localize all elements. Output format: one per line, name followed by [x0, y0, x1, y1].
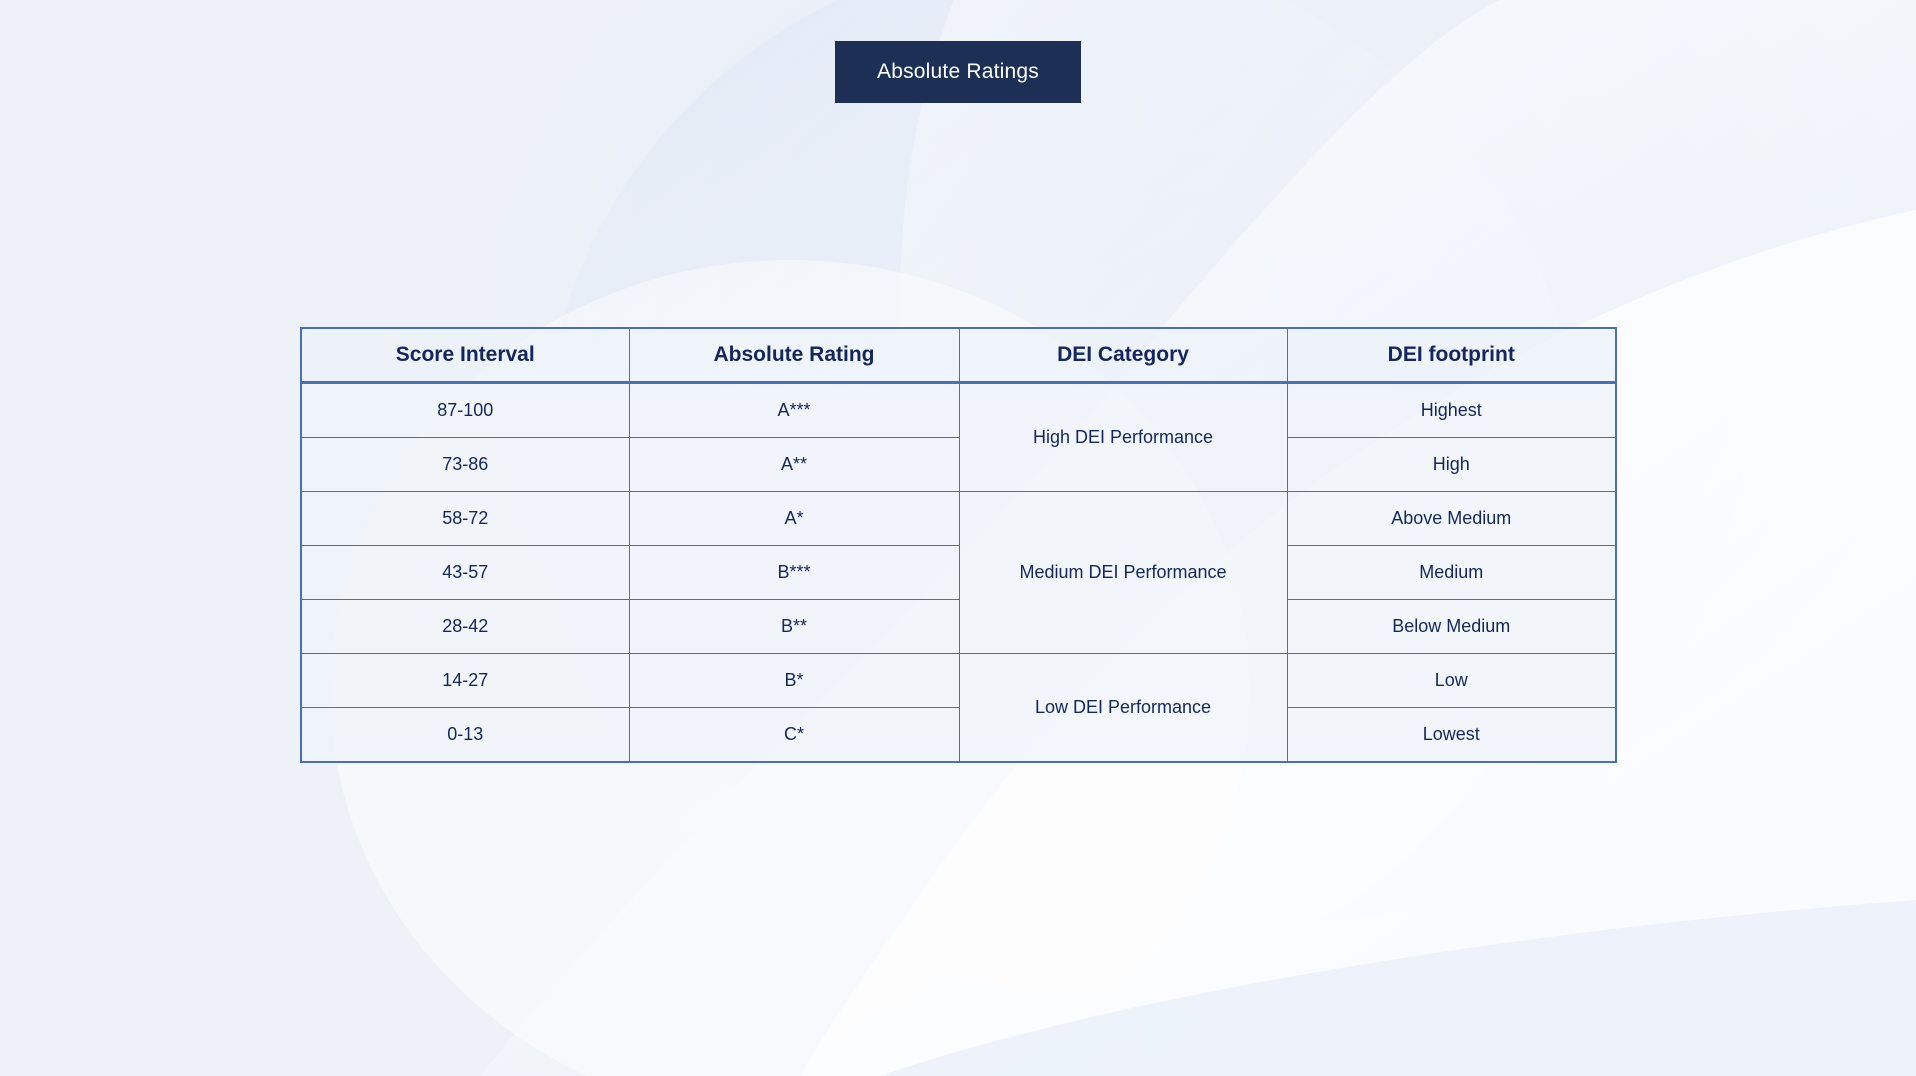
cell-dei-footprint: Lowest	[1287, 708, 1616, 763]
cell-dei-footprint: Below Medium	[1287, 600, 1616, 654]
table-row: 87-100 A*** High DEI Performance Highest	[301, 383, 1616, 438]
table-row: 43-57 B*** Medium	[301, 546, 1616, 600]
cell-dei-footprint: Low	[1287, 654, 1616, 708]
page-title-badge: Absolute Ratings	[835, 41, 1081, 103]
column-header-dei-category: DEI Category	[959, 328, 1287, 383]
table-body: 87-100 A*** High DEI Performance Highest…	[301, 383, 1616, 763]
cell-dei-footprint: Medium	[1287, 546, 1616, 600]
cell-dei-footprint: Highest	[1287, 383, 1616, 438]
cell-score-interval: 87-100	[301, 383, 629, 438]
page-title: Absolute Ratings	[877, 60, 1039, 84]
table-row: 0-13 C* Lowest	[301, 708, 1616, 763]
cell-absolute-rating: B***	[629, 546, 959, 600]
cell-absolute-rating: A***	[629, 383, 959, 438]
cell-score-interval: 43-57	[301, 546, 629, 600]
column-header-score-interval: Score Interval	[301, 328, 629, 383]
table-row: 58-72 A* Medium DEI Performance Above Me…	[301, 492, 1616, 546]
cell-dei-category: High DEI Performance	[959, 383, 1287, 492]
cell-dei-category: Medium DEI Performance	[959, 492, 1287, 654]
table-row: 73-86 A** High	[301, 438, 1616, 492]
column-header-dei-footprint: DEI footprint	[1287, 328, 1616, 383]
header-row: Score Interval Absolute Rating DEI Categ…	[301, 328, 1616, 383]
cell-score-interval: 0-13	[301, 708, 629, 763]
cell-absolute-rating: B**	[629, 600, 959, 654]
ratings-table-container: Score Interval Absolute Rating DEI Categ…	[300, 327, 1615, 763]
cell-score-interval: 58-72	[301, 492, 629, 546]
cell-dei-footprint: Above Medium	[1287, 492, 1616, 546]
cell-absolute-rating: B*	[629, 654, 959, 708]
table-row: 14-27 B* Low DEI Performance Low	[301, 654, 1616, 708]
absolute-ratings-table: Score Interval Absolute Rating DEI Categ…	[300, 327, 1617, 763]
cell-dei-category: Low DEI Performance	[959, 654, 1287, 763]
column-header-absolute-rating: Absolute Rating	[629, 328, 959, 383]
cell-score-interval: 14-27	[301, 654, 629, 708]
table-header: Score Interval Absolute Rating DEI Categ…	[301, 328, 1616, 383]
cell-dei-footprint: High	[1287, 438, 1616, 492]
cell-absolute-rating: C*	[629, 708, 959, 763]
cell-score-interval: 28-42	[301, 600, 629, 654]
cell-absolute-rating: A*	[629, 492, 959, 546]
cell-score-interval: 73-86	[301, 438, 629, 492]
cell-absolute-rating: A**	[629, 438, 959, 492]
table-row: 28-42 B** Below Medium	[301, 600, 1616, 654]
